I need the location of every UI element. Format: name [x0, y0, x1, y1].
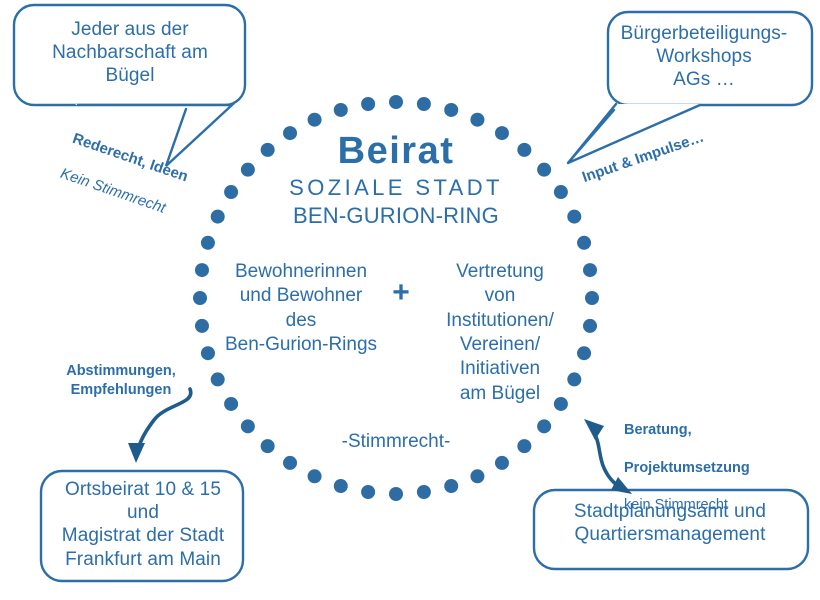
circle-dot [583, 319, 597, 333]
circle-dot [583, 263, 597, 277]
plus-icon: + [386, 278, 416, 308]
diagram-canvas: Jeder aus der Nachbarschaft am Bügel Bür… [0, 0, 820, 600]
circle-dot [417, 97, 431, 111]
connector-label-top-right: Input & Impulse… [580, 108, 766, 188]
circle-dot [261, 439, 275, 453]
circle-dot [585, 291, 599, 305]
circle-dot [417, 485, 431, 499]
circle-dot [193, 291, 207, 305]
circle-dot [308, 469, 322, 483]
circle-dot [389, 95, 403, 109]
circle-dot [577, 236, 591, 250]
circle-footer-note: -Stimmrecht- [296, 430, 496, 453]
connector-label-bottom-right-line2: Projektumsetzung [624, 459, 804, 478]
connector-label-bottom-right: Beratung, Projektumsetzung kein Stimmrec… [624, 402, 804, 534]
circle-dot [241, 419, 255, 433]
circle-left-column: Bewohnerinnen und Bewohner des Ben-Gurio… [208, 260, 394, 357]
circle-dot [308, 113, 322, 127]
circle-dot [389, 487, 403, 501]
circle-dot [224, 397, 238, 411]
circle-dot [211, 372, 225, 386]
circle-dot [361, 97, 375, 111]
circle-dot [195, 263, 209, 277]
circle-dot [470, 113, 484, 127]
circle-dot [334, 103, 348, 117]
circle-dot [444, 479, 458, 493]
circle-dot [444, 103, 458, 117]
circle-dot [517, 439, 531, 453]
connector-label-bottom-left: Abstimmungen, Empfehlungen [36, 362, 206, 400]
connector-label-bottom-right-line1: Beratung, [624, 421, 804, 440]
circle-right-column: Vertretung von Institutionen/ Vereinen/ … [420, 260, 580, 406]
box-bottom-left-text: Ortsbeirat 10 & 15 und Magistrat der Sta… [48, 478, 238, 571]
circle-dot [537, 419, 551, 433]
bubble-top-right-text: Bürgerbeteiligungs- Workshops AGs … [604, 22, 804, 92]
circle-dot [334, 479, 348, 493]
circle-dot [195, 319, 209, 333]
circle-dot [470, 469, 484, 483]
circle-dot [361, 485, 375, 499]
circle-dot [283, 456, 297, 470]
bubble-top-left-text: Jeder aus der Nachbarschaft am Bügel [24, 18, 236, 88]
connector-label-bottom-right-line3: kein Stimmrecht [624, 496, 804, 515]
circle-dot [495, 456, 509, 470]
circle-title: Beirat [196, 128, 596, 174]
